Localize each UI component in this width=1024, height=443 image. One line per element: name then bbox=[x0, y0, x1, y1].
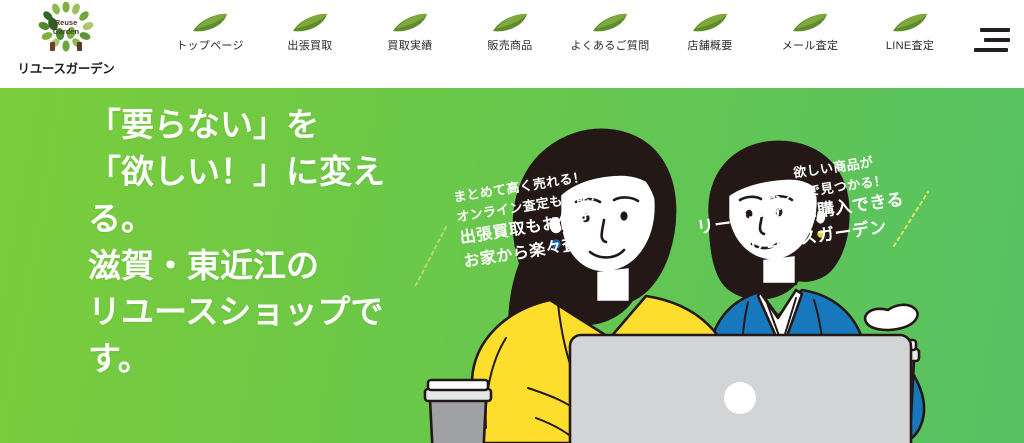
nav-item-top[interactable]: トップページ bbox=[160, 12, 260, 52]
nav-item-products[interactable]: 販売商品 bbox=[460, 12, 560, 52]
hamburger-menu-icon[interactable] bbox=[972, 25, 1010, 55]
nav-item-store-info[interactable]: 店舗概要 bbox=[660, 12, 760, 52]
site-header: Reuse Garden リユースガーデン トップページ bbox=[0, 0, 1024, 88]
main-navigation: トップページ 出張買取 買取実績 bbox=[160, 12, 960, 76]
hero-banner: 「要らない」を 「欲しい！」に変える。 滋賀・東近江の リユースショップです。 … bbox=[0, 88, 1024, 443]
nav-label: 買取実績 bbox=[387, 41, 432, 52]
landing-page: Reuse Garden リユースガーデン トップページ bbox=[0, 0, 1024, 443]
leaf-icon bbox=[691, 12, 729, 34]
hero-headline-line-4: リユースショップです。 bbox=[88, 289, 428, 383]
nav-item-mail-assessment[interactable]: メール査定 bbox=[760, 12, 860, 52]
leaf-icon bbox=[491, 12, 529, 34]
hero-headline: 「要らない」を 「欲しい！」に変える。 滋賀・東近江の リユースショップです。 bbox=[88, 102, 428, 383]
nav-item-onsite-purchase[interactable]: 出張買取 bbox=[260, 12, 360, 52]
leaf-icon bbox=[291, 12, 329, 34]
nav-label: 販売商品 bbox=[487, 41, 532, 52]
nav-label: よくあるご質問 bbox=[570, 41, 649, 52]
leaf-circle-tree-icon: Reuse Garden bbox=[35, 2, 97, 60]
leaf-icon bbox=[191, 12, 229, 34]
nav-label: メール査定 bbox=[782, 41, 839, 52]
nav-item-purchase-results[interactable]: 買取実績 bbox=[360, 12, 460, 52]
nav-label: 店舗概要 bbox=[687, 41, 732, 52]
nav-label: トップページ bbox=[176, 41, 244, 52]
hero-headline-line-1: 「要らない」を bbox=[88, 102, 428, 149]
leaf-icon bbox=[891, 12, 929, 34]
hamburger-bar-3 bbox=[974, 48, 1008, 52]
logo-wordmark-en: Reuse Garden bbox=[35, 19, 97, 36]
hero-headline-line-2: 「欲しい！」に変える。 bbox=[88, 149, 428, 243]
hamburger-bar-2 bbox=[984, 38, 1010, 42]
leaf-icon bbox=[591, 12, 629, 34]
nav-label: 出張買取 bbox=[287, 41, 332, 52]
hero-headline-line-3: 滋賀・東近江の bbox=[88, 243, 428, 290]
leaf-icon bbox=[391, 12, 429, 34]
nav-label: LINE査定 bbox=[886, 41, 934, 52]
logo-wordmark-jp: リユースガーデン bbox=[18, 58, 115, 77]
hamburger-bar-1 bbox=[980, 28, 1010, 32]
nav-item-line-assessment[interactable]: LINE査定 bbox=[860, 12, 960, 52]
leaf-icon bbox=[791, 12, 829, 34]
site-logo[interactable]: Reuse Garden リユースガーデン bbox=[8, 2, 124, 84]
nav-item-faq[interactable]: よくあるご質問 bbox=[560, 12, 660, 52]
